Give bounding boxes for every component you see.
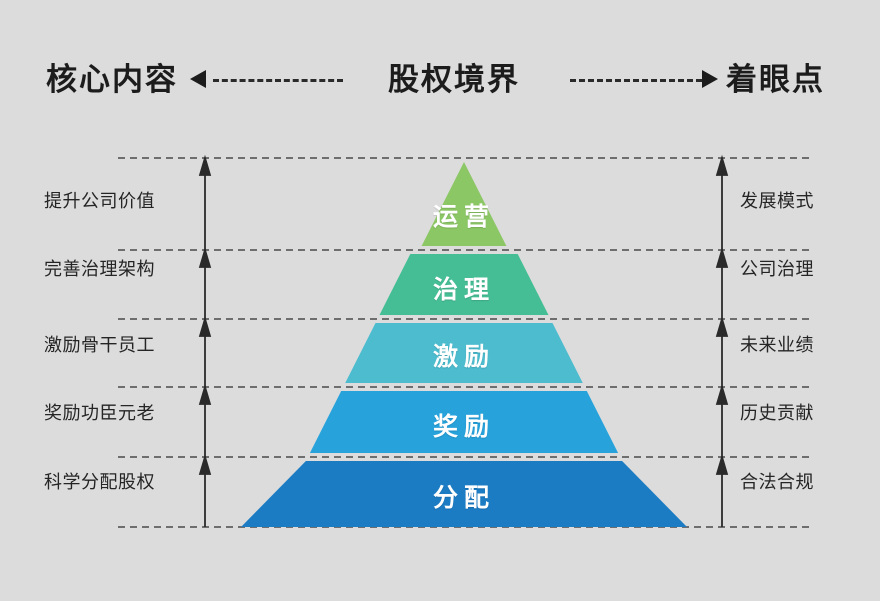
right-label-5: 合法合规	[740, 468, 814, 494]
right-arrowhead-2	[717, 319, 727, 336]
left-measure-axis	[200, 158, 210, 527]
right-arrowhead-4	[717, 457, 727, 474]
right-label-1: 发展模式	[740, 187, 814, 213]
right-arrowhead-3	[717, 387, 727, 404]
pyramid-band-label-2: 治理	[364, 270, 564, 306]
left-label-3: 激励骨干员工	[44, 331, 155, 357]
diagram-canvas: 核心内容 股权境界 着眼点	[0, 0, 880, 601]
right-label-2: 公司治理	[740, 255, 814, 281]
right-label-3: 未来业绩	[740, 331, 814, 357]
right-arrowhead-0	[717, 158, 727, 175]
left-label-2: 完善治理架构	[44, 255, 155, 281]
pyramid-band-label-4: 奖励	[364, 407, 564, 443]
pyramid-band-label-1: 运营	[364, 197, 564, 233]
left-arrowhead-0	[200, 158, 210, 175]
left-arrowhead-2	[200, 319, 210, 336]
left-arrowhead-3	[200, 387, 210, 404]
pyramid-diagram: 运营 治理 激励 奖励 分配 提升公司价值 完善治理架构 激励骨干员工 奖励功臣…	[0, 0, 880, 601]
left-label-1: 提升公司价值	[44, 187, 155, 213]
left-arrowhead-4	[200, 457, 210, 474]
left-arrowhead-1	[200, 250, 210, 267]
right-label-4: 历史贡献	[740, 399, 814, 425]
left-label-5: 科学分配股权	[44, 468, 155, 494]
left-label-4: 奖励功臣元老	[44, 399, 155, 425]
right-arrowhead-1	[717, 250, 727, 267]
pyramid-band-label-3: 激励	[364, 337, 564, 373]
right-measure-axis	[717, 158, 727, 527]
pyramid-band-label-5: 分配	[364, 478, 564, 514]
